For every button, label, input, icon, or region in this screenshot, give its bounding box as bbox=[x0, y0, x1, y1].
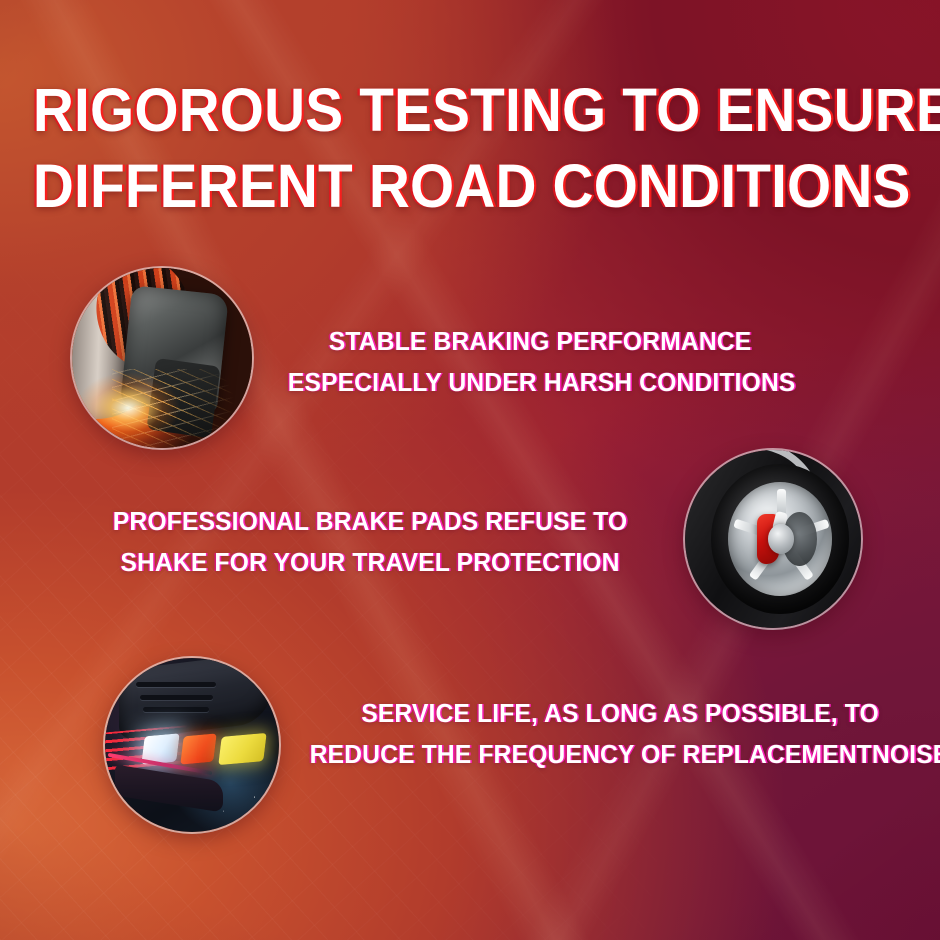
feature-3-line-1: SERVICE LIFE, AS LONG AS POSSIBLE, TO bbox=[310, 694, 931, 735]
feature-3-line-2: REDUCE THE FREQUENCY OF REPLACEMENTNOISE bbox=[310, 735, 931, 776]
feature-service-life-text: SERVICE LIFE, AS LONG AS POSSIBLE, TO RE… bbox=[310, 694, 931, 776]
feature-2-line-1: PROFESSIONAL BRAKE PADS REFUSE TO bbox=[108, 502, 632, 543]
caliper-photo-inner bbox=[72, 268, 252, 448]
headline-line-1: RIGOROUS TESTING TO ENSURE bbox=[33, 72, 907, 148]
feature-2-line-2: SHAKE FOR YOUR TRAVEL PROTECTION bbox=[108, 543, 632, 584]
light-flare-shape bbox=[76, 372, 180, 444]
feature-stable-braking-text: STABLE BRAKING PERFORMANCE ESPECIALLY UN… bbox=[288, 322, 792, 404]
alloy-wheel-photo bbox=[685, 450, 861, 628]
hood-vent-2 bbox=[140, 695, 213, 700]
wheel-photo-inner bbox=[685, 450, 861, 628]
orange-light-bar bbox=[181, 734, 217, 765]
glowing-light-bars-photo bbox=[105, 658, 279, 832]
feature-no-shake-text: PROFESSIONAL BRAKE PADS REFUSE TO SHAKE … bbox=[108, 502, 632, 584]
yellow-light-bar bbox=[218, 733, 267, 765]
wheel-hub-shape bbox=[768, 524, 794, 554]
hood-vent-3 bbox=[143, 707, 209, 712]
hood-vent-1 bbox=[136, 682, 216, 687]
glowing-brake-caliper-photo bbox=[72, 268, 252, 448]
light-photo-inner bbox=[105, 658, 279, 832]
page-title: RIGOROUS TESTING TO ENSURE DIFFERENT ROA… bbox=[33, 72, 907, 224]
headline-line-2: DIFFERENT ROAD CONDITIONS bbox=[33, 148, 907, 224]
feature-1-line-2: ESPECIALLY UNDER HARSH CONDITIONS bbox=[288, 363, 792, 404]
promotional-banner: RIGOROUS TESTING TO ENSURE DIFFERENT ROA… bbox=[0, 0, 940, 940]
alloy-rim-shape bbox=[728, 482, 832, 596]
feature-1-line-1: STABLE BRAKING PERFORMANCE bbox=[288, 322, 792, 363]
